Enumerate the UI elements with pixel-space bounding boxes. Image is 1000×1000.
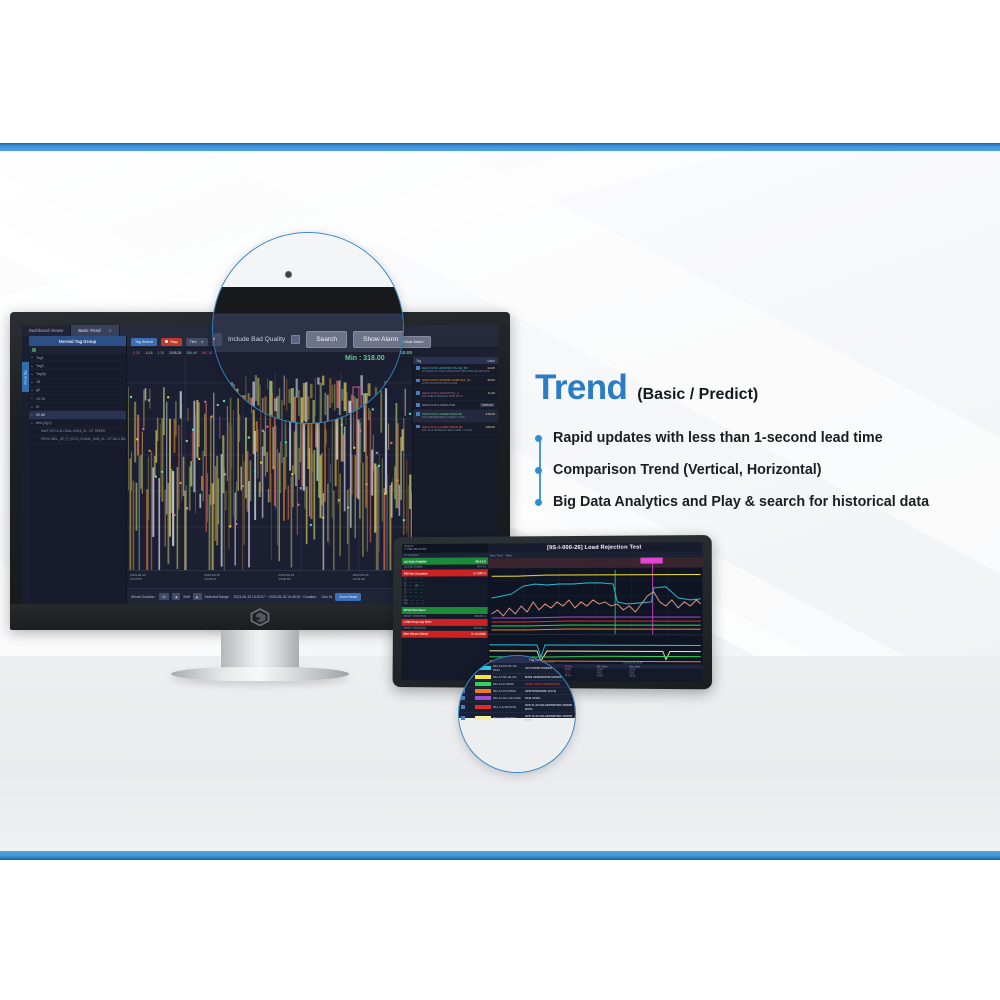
- svg-text:✕: ✕: [261, 429, 265, 434]
- duration-value: 14m 3s: [321, 595, 332, 599]
- legend-tag-value: 30.00: [487, 378, 495, 382]
- headline-block: Trend (Basic / Predict) Rapid updates wi…: [535, 368, 990, 512]
- tag-tree-leaf[interactable]: 9ALP-GFC1-AI-CDAL-GN16_01 : GT SPEED: [29, 428, 126, 436]
- status-badge[interactable]: BYCV Not Open: [402, 607, 488, 614]
- legend-item[interactable]: 9ALP-GTC1-KOO3D-COM-012_10 30.00 LPSV PO…: [413, 376, 498, 388]
- status-label: LOW Drops By MTU: [404, 620, 432, 624]
- svg-text:✕: ✕: [337, 498, 341, 503]
- legend-tag-desc: #41 GMM BEARING GMM 1T 120C: [422, 416, 495, 419]
- axis-value: 350.40: [186, 351, 196, 355]
- svg-text:✕: ✕: [147, 398, 151, 403]
- sub-value: 300.00 / s: [475, 615, 486, 618]
- tag-tree-leaf[interactable]: PROC-WEL_DR_P_GTC1_KCDAL_W45_01 : GT NU-…: [29, 436, 126, 444]
- table-row[interactable]: 9S1-C-E-SP02P02 HCP #2 ACCELEROMETRIC FE…: [459, 713, 576, 723]
- sub-label: ACTIVE POWER: [404, 566, 423, 569]
- selected-range-value: 2023-06-15 13:15:57 ~ 2023-06-15 13:46:0…: [234, 595, 301, 599]
- tag-tree-item[interactable]: KI: [29, 403, 126, 411]
- bullet-text: Big Data Analytics and Play & search for…: [553, 494, 929, 510]
- tag-tree-item[interactable]: 10.15: [29, 395, 126, 403]
- tag-group-panel: Normal Tag Group Tag1 Tag2 Tag3p 1B g0 1…: [29, 336, 127, 604]
- close-icon[interactable]: ✕: [109, 328, 112, 333]
- bullet-list: Rapid updates with less than 1-second le…: [535, 430, 990, 512]
- checkbox-icon[interactable]: [416, 366, 420, 370]
- filter-value: Filter: [190, 340, 198, 344]
- zoom-tag-code: 9S1-07-MF-3E-011: [493, 675, 523, 679]
- zoom-tag-name: HCB LEVEL: [525, 696, 575, 700]
- bottom-accent-band: [0, 851, 1000, 860]
- color-swatch: [475, 716, 491, 720]
- tag-tree-item[interactable]: Tag1: [29, 354, 126, 362]
- axis-value: 447.10: [202, 351, 212, 355]
- tag-panel-toolbar: [29, 346, 126, 354]
- bullet-text: Rapid updates with less than 1-second le…: [553, 430, 883, 446]
- tab-basic-trend[interactable]: Basic Trend: [490, 554, 503, 557]
- side-rail: Tag Group: [22, 336, 29, 604]
- sub-value: 750.000 / s: [473, 627, 485, 630]
- zoom-select[interactable]: ▾: [212, 333, 222, 346]
- legend-col-tag: Tag: [416, 359, 421, 363]
- checkbox-icon[interactable]: [461, 696, 465, 700]
- zoom-tag-name: HPB PRESSURE (CH 6): [525, 689, 575, 693]
- zoom-tag-code: 9S1-01-NL-L001-0002: [493, 696, 523, 700]
- legend-item[interactable]: 9ALP-GTC1-AI3EP-PASS-0F 166.00 #41 1P GT…: [413, 423, 498, 435]
- overview-timestamp-right: 2023-06-15 13:46: [623, 661, 642, 664]
- legend-item[interactable]: 9ALP-GTC1-ROO3D-TIG-SZ_09 44.00 GT MAIN …: [413, 364, 498, 376]
- zoom-search-button[interactable]: Search: [306, 331, 347, 348]
- slide-root: Trend (Basic / Predict) Rapid updates wi…: [0, 0, 1000, 1000]
- status-value: 0 / OFF 0: [473, 571, 485, 575]
- table-row[interactable]: 9S1-01-PG-SC-TE-PA20 ACTUATOR POWER: [459, 663, 576, 674]
- svg-text:✕: ✕: [375, 451, 379, 456]
- zoom-tag-code: 9S1-01-PG-P0001: [493, 689, 523, 693]
- tab-dashboard-viewer[interactable]: Dashboard Viewer: [22, 325, 71, 336]
- tablet-trend-svg: [488, 557, 703, 634]
- tag-tree-item[interactable]: 00.88: [29, 411, 126, 419]
- shift-label: Shift: [183, 595, 190, 599]
- status-badge[interactable]: Mas Steam Safety 0 / CLOSE: [402, 631, 488, 638]
- status-label: PID Not Actuated: [404, 571, 428, 575]
- tag-panel-header: Normal Tag Group: [29, 336, 126, 346]
- zoom-col-color: Color: [480, 658, 496, 662]
- tag-search-label: Tag Search: [135, 340, 153, 344]
- status-label: Mas Steam Safety: [404, 632, 429, 636]
- shift-right-button[interactable]: ▶: [193, 593, 201, 600]
- page-subtitle: (Basic / Predict): [637, 386, 758, 404]
- legend-tag-value: 318.00: [486, 412, 495, 416]
- checkbox-icon[interactable]: [416, 412, 420, 416]
- legend-tag-name: 9ALP-GTC1-AI40-LIT16: [422, 403, 477, 407]
- zoom-min-label: Min : 318.00: [345, 355, 385, 362]
- axis-value: 2008.25: [169, 351, 181, 355]
- list-item: Comparison Trend (Vertical, Horizontal): [553, 462, 990, 480]
- table-col-min: Min Value: [597, 665, 623, 668]
- zoom-tag-name: MAIN GENERATOR GROSS RESET: [525, 675, 575, 679]
- zoom-checkbox-icon[interactable]: [291, 335, 300, 344]
- legend-item[interactable]: 9ALP-GTC1-AI40-LIT16 1985.00: [413, 401, 498, 410]
- legend-item[interactable]: 9ALP-GTC1-AI40-PIT11_1 11.00 #41 GMM STO…: [413, 389, 498, 401]
- legend-tag-value: 11.00: [487, 391, 495, 395]
- bullet-dot-icon: [535, 435, 542, 442]
- color-swatch: [475, 696, 491, 700]
- svg-text:✕: ✕: [223, 472, 227, 477]
- legend-item-top: 9ALP-GTC1-AI40-LIT16 1985.00: [416, 403, 495, 407]
- zoom-tag-name: HCP #2 ACCELEROMETRIC FEDRR RATE: [525, 714, 575, 722]
- top-accent-band: [0, 143, 1000, 151]
- tag-tree-item[interactable]: Tag2: [29, 362, 126, 370]
- tag-tree-item[interactable]: Tag3p: [29, 370, 126, 378]
- stop-label: Stop: [170, 340, 177, 344]
- tag-search-button[interactable]: Tag Search: [131, 338, 157, 346]
- zoom-tag-code: 9S1-C-E-SP01P01: [493, 705, 523, 709]
- axis-tick: 2023-06-15 13:15:57: [127, 571, 201, 588]
- monitor-stand-base: [171, 667, 349, 681]
- zoom-tag-code: 9S1-01-PG-SC-TE-PA20: [493, 664, 523, 672]
- color-swatch: [475, 682, 491, 686]
- whole-duration-label: Whole Duration :: [131, 595, 156, 599]
- tick-time: 13:15:57: [130, 577, 142, 581]
- zoom-include-bad-quality-label: Include Bad Quality: [228, 336, 285, 343]
- title-row: Trend (Basic / Predict): [535, 368, 990, 408]
- axis-tick: 2023-06-15 13:35:27: [201, 571, 275, 588]
- axis-tick: 2023-06-15 13:38:56: [275, 571, 349, 588]
- zoom-col-tagname: Tag Name: [498, 658, 575, 662]
- list-item: Rapid updates with less than 1-second le…: [553, 430, 990, 448]
- axis-value: -0.20: [132, 351, 140, 355]
- webcam-icon-zoom: [285, 271, 292, 278]
- axis-value: 1.10: [157, 351, 164, 355]
- svg-text:✕: ✕: [185, 506, 189, 511]
- bullet-dot-icon: [535, 499, 542, 506]
- status-label: BYCV Not Open: [404, 608, 426, 612]
- checkbox-icon[interactable]: [416, 425, 420, 429]
- hexagon-logo: [250, 608, 270, 631]
- legend-tag-desc: LPSV POSITION GM CLOSE: [422, 382, 495, 385]
- add-tag-icon[interactable]: [32, 348, 36, 352]
- color-swatch: [475, 666, 491, 670]
- legend-tag-name: 9ALP-GTC1-AI3EP-PASS-0F: [422, 425, 483, 429]
- grid-line: B02———: [404, 602, 486, 606]
- status-grid: 15——— 16——— 18—100— 20——— 22——— 23——— B0…: [402, 576, 488, 607]
- legend-tag-desc: GT MAIN OIL TANK VAPOR EXTRACTOR MO-2M 0…: [422, 370, 495, 373]
- checkbox-icon[interactable]: [461, 675, 465, 679]
- checkbox-icon[interactable]: [461, 666, 465, 670]
- zoom-plot-svg: [213, 373, 404, 424]
- checkbox-icon[interactable]: [461, 705, 465, 709]
- checkbox-icon[interactable]: [416, 403, 420, 407]
- sidebar-item-tag-group[interactable]: Tag Group: [22, 362, 29, 392]
- duration-label: Duration :: [303, 595, 318, 599]
- bullet-text: Comparison Trend (Vertical, Horizontal): [553, 462, 822, 478]
- zoom-reset-button[interactable]: Zoom Reset: [335, 593, 361, 601]
- color-swatch: [475, 675, 491, 679]
- color-swatch: [475, 705, 491, 709]
- checkbox-icon[interactable]: [461, 716, 465, 720]
- tick-time: 13:42:28: [353, 577, 365, 581]
- table-row[interactable]: 9S1-C-E-SP01P01 HCP #1 ACCELEROMETRIC FE…: [459, 702, 576, 713]
- zoom-tag-name: ACTUATOR POWER: [525, 666, 575, 670]
- checkbox-icon[interactable]: [416, 391, 420, 395]
- tick-time: 13:35:27: [204, 577, 216, 581]
- legend-tag-desc: #41 GMM STORAGE TANK PIT 6: [422, 395, 495, 398]
- zoom-show-alarm-button[interactable]: Show Alarm: [353, 331, 404, 348]
- zoom-tag-code: 9S1-C-E-SP02P02: [493, 716, 523, 720]
- zoom-tag-name: AXIAL SHAFT POSITION 2: [525, 682, 575, 686]
- stop-icon: [165, 340, 168, 343]
- whole-duration-select[interactable]: 1h: [159, 593, 169, 600]
- page-title: Trend: [535, 368, 627, 408]
- tab-alarm[interactable]: Alarm: [506, 554, 512, 557]
- legend-header: Tag Value: [413, 357, 498, 364]
- zoom-tag-name: HCP #1 ACCELEROMETRIC FEDRR RATE: [525, 703, 575, 711]
- tab-label: Basic Trend: [78, 328, 100, 333]
- tag-tree-item[interactable]: test (1)(1): [29, 420, 126, 428]
- legend-tag-value: 166.00: [486, 425, 495, 429]
- legend-tag-desc: #41 1P GTM BLOCK MOV GMM 1T 120C: [422, 429, 495, 432]
- magnifier-monitor: ▾ Include Bad Quality Search Show Alarm …: [212, 232, 404, 424]
- zoom-tag-code: 9S1-01-1U-B001: [493, 682, 523, 686]
- sub-value: 38.4.2.0: [477, 565, 486, 568]
- legend-tag-value: 1985.00: [480, 403, 495, 407]
- table-row[interactable]: 9S1-01-PG-P0001 HPB PRESSURE (CH 6): [459, 688, 576, 695]
- status-value: 38.4.2.0: [475, 559, 486, 563]
- side-rail-label: Tag Group: [24, 370, 28, 385]
- legend-col-value: Value: [487, 359, 495, 363]
- shift-left-button[interactable]: ◀: [172, 593, 180, 600]
- svg-text:✕: ✕: [299, 486, 303, 491]
- table-col-max: Max Value: [629, 665, 655, 668]
- tablet-trend-chart[interactable]: [488, 557, 703, 634]
- axis-value: -0.15: [145, 351, 153, 355]
- sub-label: SHAFT 1 POSITION: [404, 615, 426, 618]
- table-row[interactable]: 9S1-01-NL-L001-0002 HCB LEVEL: [459, 695, 576, 702]
- bullet-dot-icon: [535, 467, 542, 474]
- tab-basic-trend[interactable]: Basic Trend ✕: [71, 325, 119, 336]
- filter-select[interactable]: Filter ▾: [186, 338, 209, 346]
- checkbox-icon[interactable]: [416, 379, 420, 383]
- color-swatch: [475, 689, 491, 693]
- status-value: 0 / CLOSE: [471, 632, 485, 636]
- tag-tree-item[interactable]: 1B: [29, 379, 126, 387]
- stop-button[interactable]: Stop: [161, 338, 181, 346]
- legend-item[interactable]: 9ALP-GTC1-AI30E-PASS-0F 318.00 #41 GMM B…: [413, 410, 498, 422]
- table-row[interactable]: 9S1-07-MF-3E-011 MAIN GENERATOR GROSS RE…: [459, 674, 576, 681]
- checkbox-icon[interactable]: [461, 689, 465, 693]
- status-label: ACTIVE POWER: [404, 559, 426, 563]
- table-row[interactable]: 9S1-01-1U-B001 AXIAL SHAFT POSITION 2: [459, 681, 576, 688]
- tag-tree-item[interactable]: g0: [29, 387, 126, 395]
- sub-label: SHAFT 2 POSITION: [404, 627, 426, 630]
- list-item: Big Data Analytics and Play & search for…: [553, 494, 990, 512]
- readout-line-2: 0: PWR 380.00 MW: [404, 548, 426, 551]
- tick-time: 13:38:56: [278, 577, 290, 581]
- tab-label: Dashboard Viewer: [29, 328, 63, 333]
- chevron-down-icon: ▾: [201, 340, 203, 344]
- checkbox-icon[interactable]: [461, 682, 465, 686]
- magnifier-tablet: Color Tag Name 9S1-01-PG-SC-TE-PA20 ACTU…: [458, 655, 576, 773]
- clear-alarm-label: Clear Alarm: [403, 339, 423, 344]
- selected-range-label: Selected Range :: [205, 595, 231, 599]
